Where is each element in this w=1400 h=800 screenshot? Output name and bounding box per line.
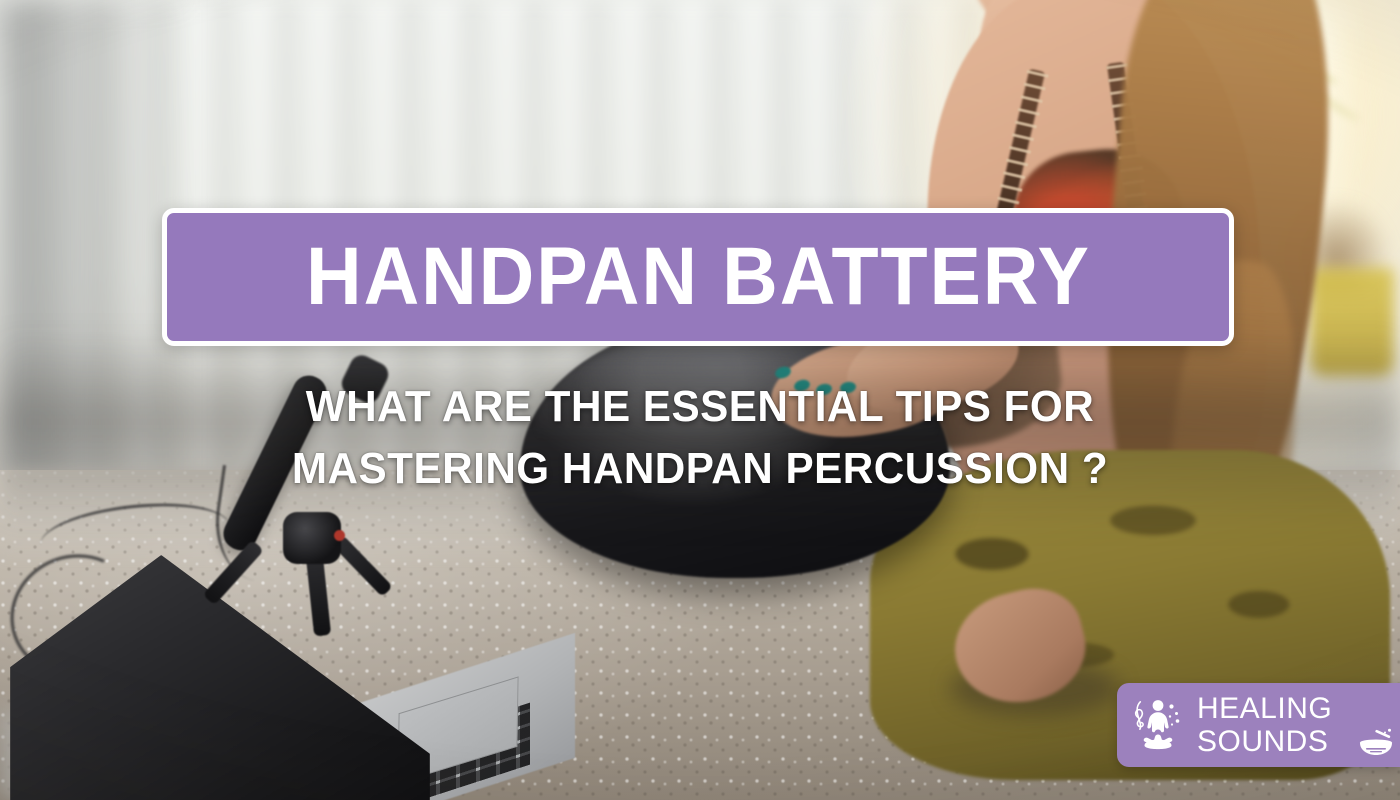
subtitle: WHAT ARE THE ESSENTIAL TIPS FOR MASTERIN…	[0, 376, 1400, 500]
subtitle-line-2: MASTERING HANDPAN PERCUSSION ?	[28, 438, 1372, 500]
banner-image: HANDPAN BATTERY WHAT ARE THE ESSENTIAL T…	[0, 0, 1400, 800]
logo-line-2: SOUNDS	[1197, 725, 1332, 758]
logo-line-1: HEALING	[1197, 692, 1332, 725]
title-banner: HANDPAN BATTERY	[162, 208, 1234, 346]
meditating-person-icon	[1144, 700, 1173, 749]
subtitle-line-1: WHAT ARE THE ESSENTIAL TIPS FOR	[28, 376, 1372, 438]
page-title: HANDPAN BATTERY	[306, 236, 1091, 318]
logo-wordmark: HEALING SOUNDS	[1197, 692, 1332, 758]
treble-clef-icon	[1136, 702, 1143, 729]
sparkle-dots-icon	[1169, 704, 1180, 725]
logo-mark	[1129, 693, 1191, 757]
healing-sounds-logo[interactable]: HEALING SOUNDS	[1117, 683, 1400, 767]
singing-bowl-icon	[1358, 728, 1394, 758]
